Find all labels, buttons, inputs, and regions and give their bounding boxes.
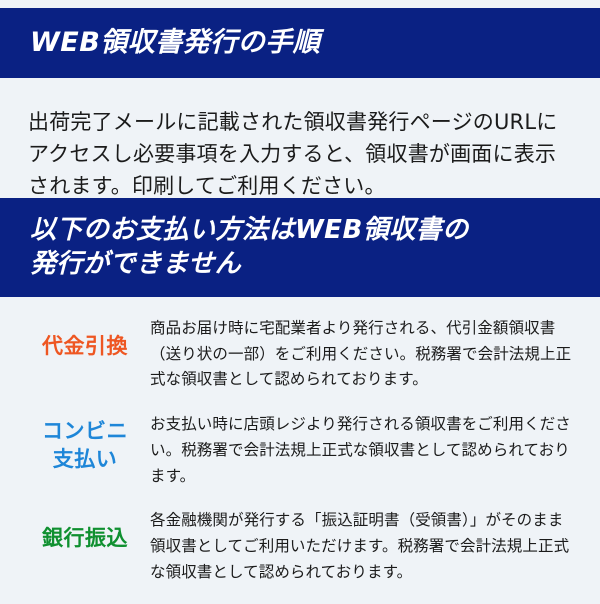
payment-method-label-convenience-store: コンビニ 支払い <box>29 412 141 473</box>
payment-method-label-cash-on-delivery: 代金引換 <box>29 316 141 361</box>
list-item: 銀行振込 各金融機関が発行する「振込証明書（受領書）」がそのまま領収書としてご利… <box>0 508 600 585</box>
list-item: 代金引換 商品お届け時に宅配業者より発行される、代引金額領収書（送り状の一部）を… <box>0 316 600 393</box>
subtitle-heading: 以下のお支払い方法はWEB領収書の 発行ができません <box>30 214 469 282</box>
subtitle-band: 以下のお支払い方法はWEB領収書の 発行ができません <box>0 198 600 297</box>
intro-paragraph: 出荷完了メールに記載された領収書発行ページのURLにアクセスし必要事項を入力する… <box>28 107 573 203</box>
payment-method-description-bank-transfer: 各金融機関が発行する「振込証明書（受領書）」がそのまま領収書としてご利用いただけ… <box>150 508 600 585</box>
payment-method-label-bank-transfer: 銀行振込 <box>29 508 141 553</box>
page-title: WEB領収書発行の手順 <box>30 26 320 61</box>
payment-method-description-cash-on-delivery: 商品お届け時に宅配業者より発行される、代引金額領収書（送り状の一部）をご利用くだ… <box>150 316 600 393</box>
payment-method-list: 代金引換 商品お届け時に宅配業者より発行される、代引金額領収書（送り状の一部）を… <box>0 316 600 604</box>
payment-method-description-convenience-store: お支払い時に店頭レジより発行される領収書をご利用ください。税務署で会計法規上正式… <box>150 412 600 489</box>
list-item: コンビニ 支払い お支払い時に店頭レジより発行される領収書をご利用ください。税務… <box>0 412 600 489</box>
receipt-instructions-page: WEB領収書発行の手順 出荷完了メールに記載された領収書発行ページのURLにアク… <box>0 0 600 600</box>
title-band: WEB領収書発行の手順 <box>0 8 600 78</box>
